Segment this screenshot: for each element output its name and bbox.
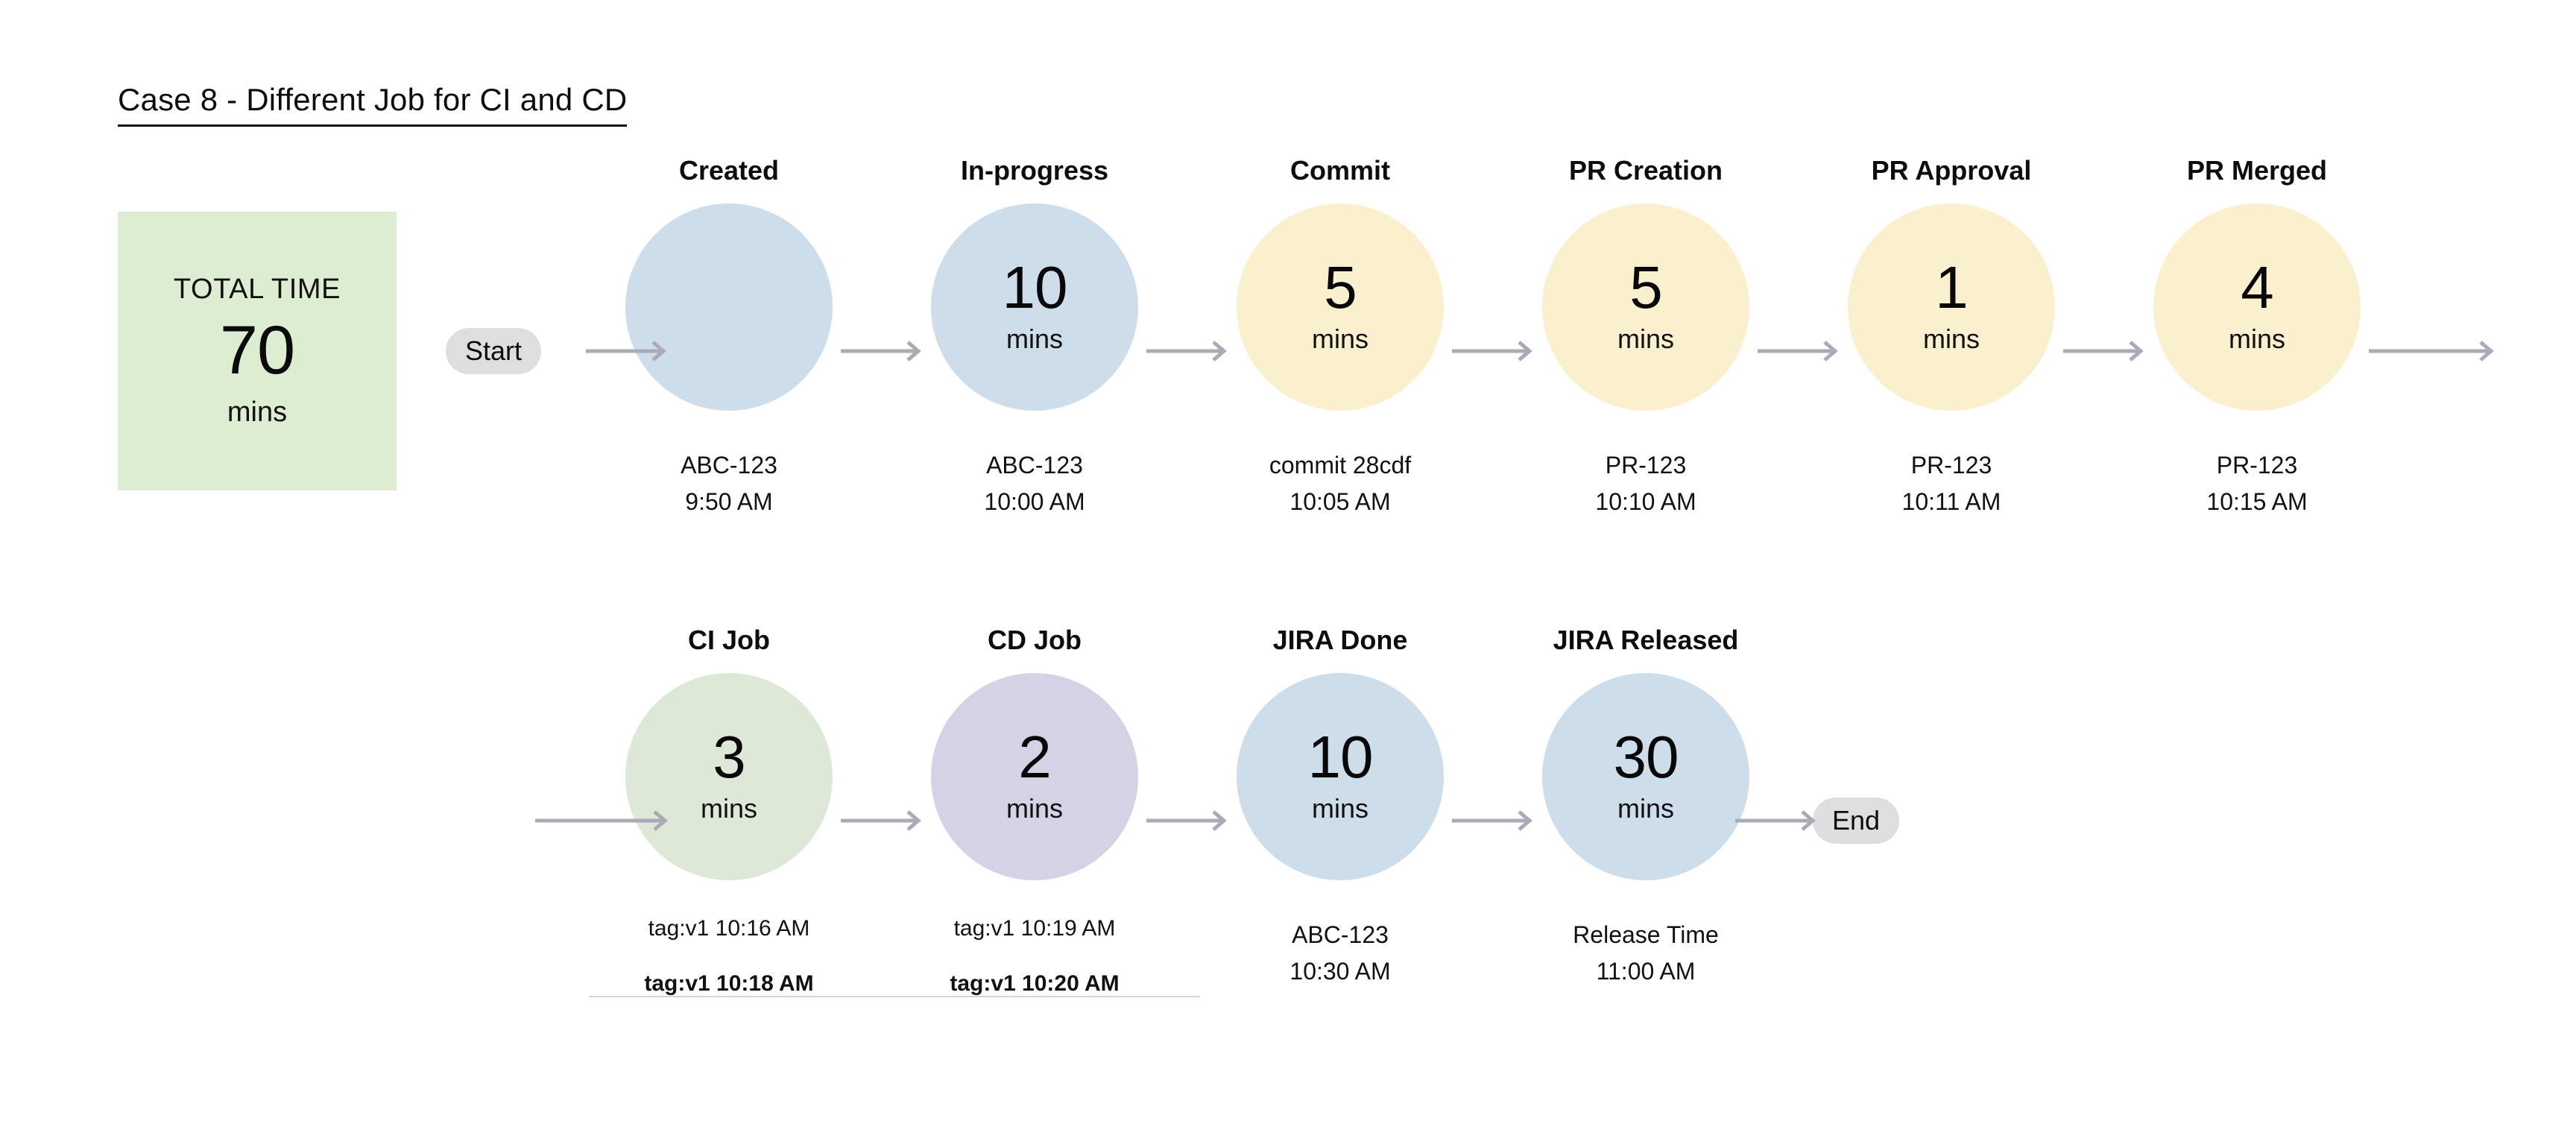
node-tag-start: tag:v1 10:16 AM (602, 912, 856, 945)
node-circle-wrap: 4 mins (2130, 197, 2384, 417)
node-unit: mins (1617, 323, 1674, 355)
node-title: CD Job (908, 623, 1161, 657)
node-value: 10 (1003, 259, 1067, 317)
node-meta: ABC-123 9:50 AM (602, 447, 856, 520)
start-node[interactable]: Start (446, 328, 541, 374)
flow-node-commit[interactable]: Commit 5 mins commit 28cdf 10:05 AM (1213, 154, 1467, 520)
node-circle-wrap: 2 mins (908, 666, 1161, 887)
node-circle-wrap: 1 mins (1825, 197, 2078, 417)
node-meta-time: 10:10 AM (1519, 484, 1772, 520)
node-unit: mins (2229, 323, 2285, 355)
node-circle[interactable]: 10 mins (931, 203, 1138, 411)
node-meta: ABC-123 10:30 AM (1213, 917, 1467, 989)
node-circle[interactable]: 4 mins (2153, 203, 2361, 411)
node-meta-time: 10:00 AM (908, 484, 1161, 520)
node-circle-wrap: 10 mins (908, 197, 1161, 417)
node-value: 4 (2241, 259, 2273, 317)
node-meta-ref: ABC-123 (908, 447, 1161, 484)
node-meta-time: 9:50 AM (602, 484, 856, 520)
arrow-row1-wrap-out (2369, 336, 2503, 366)
node-value: 3 (713, 729, 745, 786)
node-circle[interactable]: 5 mins (1237, 203, 1444, 411)
node-meta-ref: PR-123 (1519, 447, 1772, 484)
node-meta-ref: PR-123 (1825, 447, 2078, 484)
node-meta-ref: ABC-123 (602, 447, 856, 484)
node-tag-meta: tag:v1 10:19 AM tag:v1 10:20 AM (908, 912, 1161, 1000)
tag-spacer (602, 945, 856, 967)
node-title: PR Creation (1519, 154, 1772, 188)
node-circle-wrap: 5 mins (1213, 197, 1467, 417)
node-title: CI Job (602, 623, 856, 657)
node-meta: Release Time 11:00 AM (1519, 917, 1772, 989)
node-unit: mins (1312, 323, 1368, 355)
node-tag-start: tag:v1 10:19 AM (908, 912, 1161, 945)
node-unit: mins (701, 793, 757, 824)
node-circle[interactable]: 2 mins (931, 673, 1138, 880)
node-meta: ABC-123 10:00 AM (908, 447, 1161, 520)
node-value: 5 (1629, 259, 1662, 317)
flow-node-cd-job[interactable]: CD Job 2 mins tag:v1 10:19 AM tag:v1 10:… (908, 623, 1161, 1000)
node-circle-wrap (602, 197, 856, 417)
node-meta-time: 10:15 AM (2130, 484, 2384, 520)
node-circle[interactable]: 5 mins (1542, 203, 1749, 411)
node-title: JIRA Released (1519, 623, 1772, 657)
flow-node-pr-merged[interactable]: PR Merged 4 mins PR-123 10:15 AM (2130, 154, 2384, 520)
node-tag-meta: tag:v1 10:16 AM tag:v1 10:18 AM (602, 912, 856, 1000)
node-value: 10 (1308, 729, 1373, 786)
node-unit: mins (1923, 323, 1980, 355)
flow-node-created[interactable]: Created ABC-123 9:50 AM (602, 154, 856, 520)
node-title: PR Merged (2130, 154, 2384, 188)
node-value: 30 (1614, 729, 1679, 786)
diagram-canvas: Case 8 - Different Job for CI and CD TOT… (0, 0, 2576, 1127)
node-circle[interactable]: 10 mins (1237, 673, 1444, 880)
node-value: 2 (1018, 729, 1051, 786)
node-value: 5 (1324, 259, 1357, 317)
node-meta-time: 11:00 AM (1519, 953, 1772, 990)
node-meta-time: 10:11 AM (1825, 484, 2078, 520)
node-unit: mins (1312, 793, 1368, 824)
flow-node-jira-released[interactable]: JIRA Released 30 mins Release Time 11:00… (1519, 623, 1772, 989)
node-title: PR Approval (1825, 154, 2078, 188)
node-circle-wrap: 10 mins (1213, 666, 1467, 887)
node-circle[interactable]: 3 mins (625, 673, 833, 880)
node-circle[interactable]: 30 mins (1542, 673, 1749, 880)
flow-node-jira-done[interactable]: JIRA Done 10 mins ABC-123 10:30 AM (1213, 623, 1467, 989)
node-title: Created (602, 154, 856, 188)
node-unit: mins (1006, 793, 1063, 824)
node-title: Commit (1213, 154, 1467, 188)
node-circle-wrap: 5 mins (1519, 197, 1772, 417)
node-unit: mins (1617, 793, 1674, 824)
node-circle-wrap: 30 mins (1519, 666, 1772, 887)
node-meta: PR-123 10:15 AM (2130, 447, 2384, 520)
node-meta: commit 28cdf 10:05 AM (1213, 447, 1467, 520)
node-meta-ref: commit 28cdf (1213, 447, 1467, 484)
page-title: Case 8 - Different Job for CI and CD (118, 82, 627, 127)
node-meta: PR-123 10:11 AM (1825, 447, 2078, 520)
flow-node-pr-approval[interactable]: PR Approval 1 mins PR-123 10:11 AM (1825, 154, 2078, 520)
node-title: In-progress (908, 154, 1161, 188)
total-time-label: TOTAL TIME (174, 274, 341, 306)
tag-divider (589, 996, 1200, 997)
node-meta-time: 10:05 AM (1213, 484, 1467, 520)
node-meta-ref: Release Time (1519, 917, 1772, 953)
total-time-value: 70 (220, 316, 294, 385)
node-meta-time: 10:30 AM (1213, 953, 1467, 990)
total-time-card: TOTAL TIME 70 mins (118, 212, 397, 490)
flow-node-pr-creation[interactable]: PR Creation 5 mins PR-123 10:10 AM (1519, 154, 1772, 520)
total-time-unit: mins (227, 397, 287, 429)
node-meta: PR-123 10:10 AM (1519, 447, 1772, 520)
flow-node-in-progress[interactable]: In-progress 10 mins ABC-123 10:00 AM (908, 154, 1161, 520)
end-node[interactable]: End (1813, 798, 1899, 844)
node-meta-ref: PR-123 (2130, 447, 2384, 484)
node-circle[interactable] (625, 203, 833, 411)
node-meta-ref: ABC-123 (1213, 917, 1467, 953)
node-title: JIRA Done (1213, 623, 1467, 657)
node-unit: mins (1006, 323, 1063, 355)
tag-spacer (908, 945, 1161, 967)
node-circle[interactable]: 1 mins (1848, 203, 2055, 411)
node-value: 1 (1935, 259, 1968, 317)
flow-node-ci-job[interactable]: CI Job 3 mins tag:v1 10:16 AM tag:v1 10:… (602, 623, 856, 1000)
node-circle-wrap: 3 mins (602, 666, 856, 887)
